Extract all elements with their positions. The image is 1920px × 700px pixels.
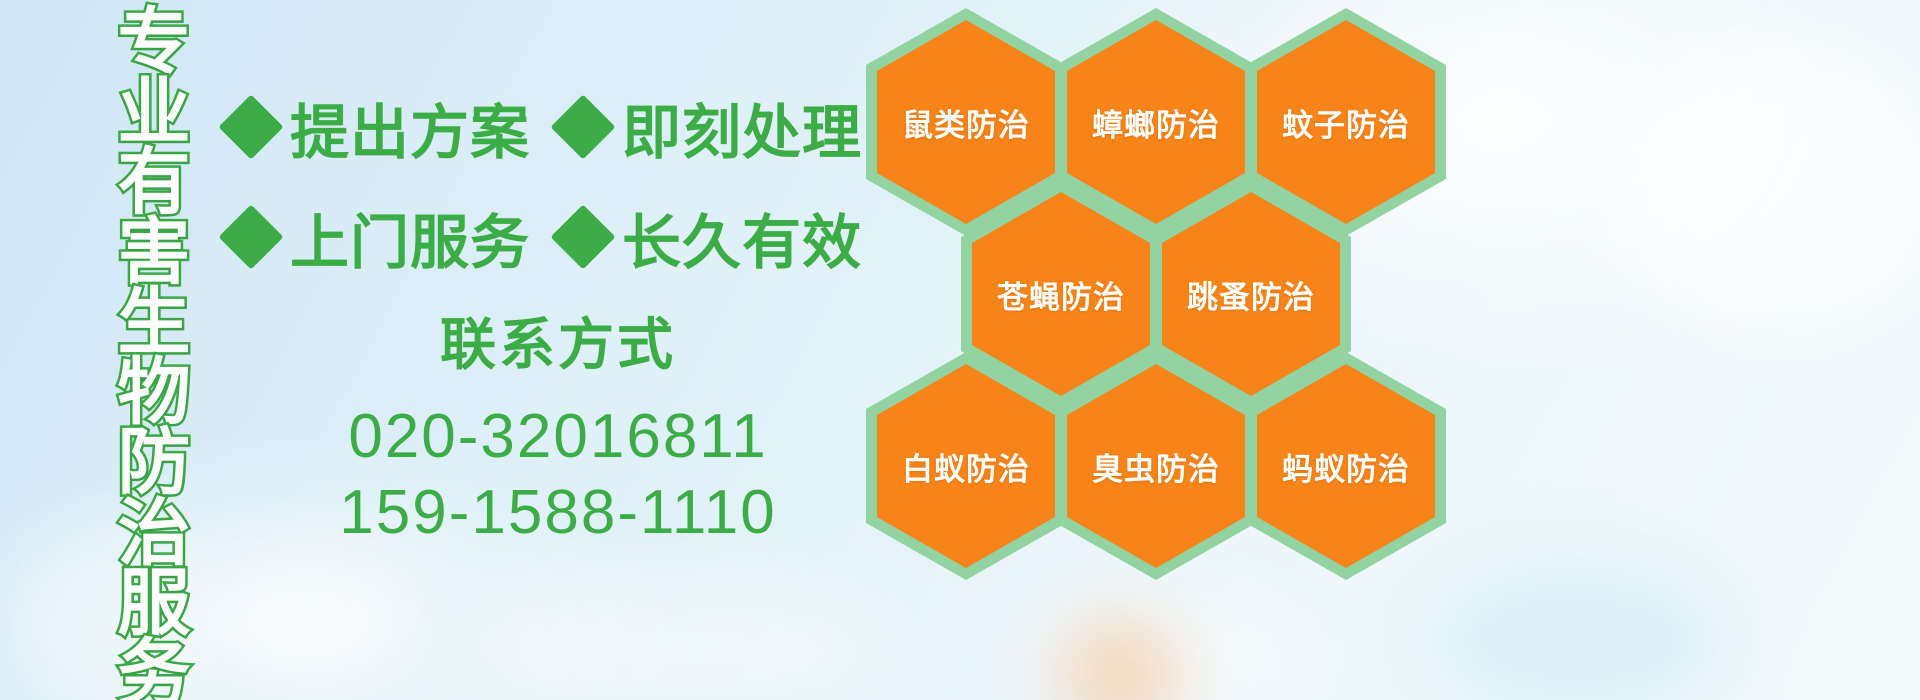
service-hex-label: 鼠类防治 xyxy=(902,100,1030,145)
service-hex-inner: 臭虫防治 xyxy=(1067,364,1245,568)
service-hex-label: 白蚁防治 xyxy=(902,444,1030,489)
service-hex-label: 蟑螂防治 xyxy=(1092,100,1220,145)
feature-row: 上门服务 长久有效 xyxy=(228,182,888,292)
banner-canvas: 专 业 有 害 生 物 防 治 服 务 提出方案 即刻处理 上门服务 xyxy=(0,0,1920,700)
background-blur-blob xyxy=(1430,560,1730,700)
service-hex-label: 苍蝇防治 xyxy=(997,272,1125,317)
service-hex-label: 臭虫防治 xyxy=(1092,444,1220,489)
feature-row: 提出方案 即刻处理 xyxy=(228,72,888,182)
service-hex-inner: 蟑螂防治 xyxy=(1067,20,1245,224)
service-hex-inner: 蚂蚁防治 xyxy=(1257,364,1435,568)
contact-block: 联系方式 020-32016811 159-1588-1110 xyxy=(228,300,888,550)
service-hex-inner: 鼠类防治 xyxy=(877,20,1055,224)
service-hex-inner: 苍蝇防治 xyxy=(972,192,1150,396)
service-hex-label: 跳蚤防治 xyxy=(1187,272,1315,317)
vertical-headline-char: 防 xyxy=(118,428,191,498)
vertical-headline-char: 生 xyxy=(118,288,191,358)
background-blur-blob xyxy=(1610,40,1920,340)
service-hex-label: 蚊子防治 xyxy=(1282,100,1410,145)
diamond-bullet-icon xyxy=(550,94,615,159)
diamond-bullet-icon xyxy=(550,204,615,269)
background-blur-blob xyxy=(470,575,890,700)
feature-label: 即刻处理 xyxy=(622,85,862,170)
feature-label: 提出方案 xyxy=(290,85,530,170)
service-hex-inner: 跳蚤防治 xyxy=(1162,192,1340,396)
vertical-headline: 专 业 有 害 生 物 防 治 服 务 xyxy=(106,8,202,564)
vertical-headline-char: 专 xyxy=(118,8,191,78)
contact-title: 联系方式 xyxy=(228,300,888,381)
diamond-bullet-icon xyxy=(218,94,283,159)
vertical-headline-char: 服 xyxy=(118,569,191,639)
background-blur-blob xyxy=(190,545,420,675)
vertical-headline-char: 有 xyxy=(118,148,191,218)
feature-item-long-lasting: 长久有效 xyxy=(560,195,862,280)
phone-number-mobile[interactable]: 159-1588-1110 xyxy=(228,475,888,551)
vertical-headline-char: 务 xyxy=(118,639,191,700)
feature-list: 提出方案 即刻处理 上门服务 长久有效 xyxy=(228,72,888,292)
feature-label: 长久有效 xyxy=(622,195,862,280)
service-hex-inner: 白蚁防治 xyxy=(877,364,1055,568)
diamond-bullet-icon xyxy=(218,204,283,269)
service-hex-inner: 蚊子防治 xyxy=(1257,20,1435,224)
phone-number-landline[interactable]: 020-32016811 xyxy=(228,399,888,475)
service-honeycomb: 鼠类防治 蟑螂防治 蚊子防治 苍蝇防治 跳蚤防治 白蚁防治 xyxy=(852,0,1472,700)
feature-item-propose-plan: 提出方案 xyxy=(228,85,530,170)
service-hex-label: 蚂蚁防治 xyxy=(1282,444,1410,489)
vertical-headline-char: 物 xyxy=(118,358,191,428)
feature-label: 上门服务 xyxy=(290,195,530,280)
feature-item-immediate-handling: 即刻处理 xyxy=(560,85,862,170)
vertical-headline-char: 治 xyxy=(118,499,191,569)
vertical-headline-char: 业 xyxy=(118,78,191,148)
vertical-headline-char: 害 xyxy=(118,218,191,288)
feature-item-onsite-service: 上门服务 xyxy=(228,195,530,280)
